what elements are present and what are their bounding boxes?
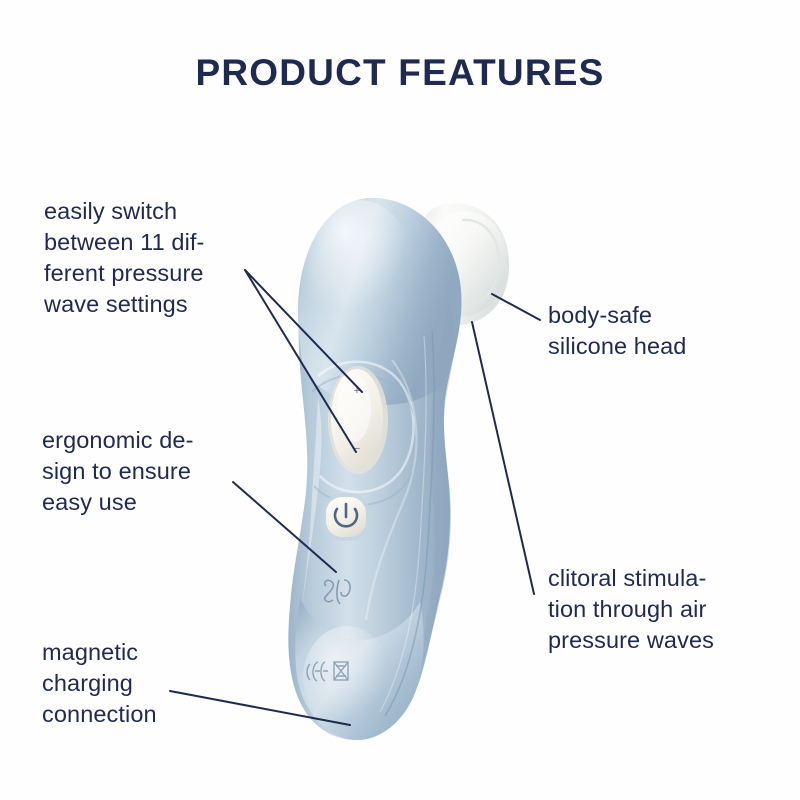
intensity-plus-label: +	[354, 385, 360, 397]
callout-silicone-head: body-safe silicone head	[548, 300, 778, 362]
infographic-canvas: PRODUCT FEATURES	[0, 0, 800, 800]
intensity-oval-button[interactable]: + −	[328, 366, 388, 474]
callout-ergonomic-design: ergonomic de- sign to ensure easy use	[42, 425, 257, 518]
callout-clitoral-stimulation: clitoral stimula- tion through air press…	[548, 563, 784, 656]
device-body	[288, 198, 461, 740]
intensity-minus-label: −	[354, 443, 360, 455]
power-button[interactable]	[322, 493, 370, 541]
callout-magnetic-charging: magnetic charging connection	[42, 637, 242, 730]
callout-settings: easily switch between 11 dif- ferent pre…	[44, 196, 259, 320]
